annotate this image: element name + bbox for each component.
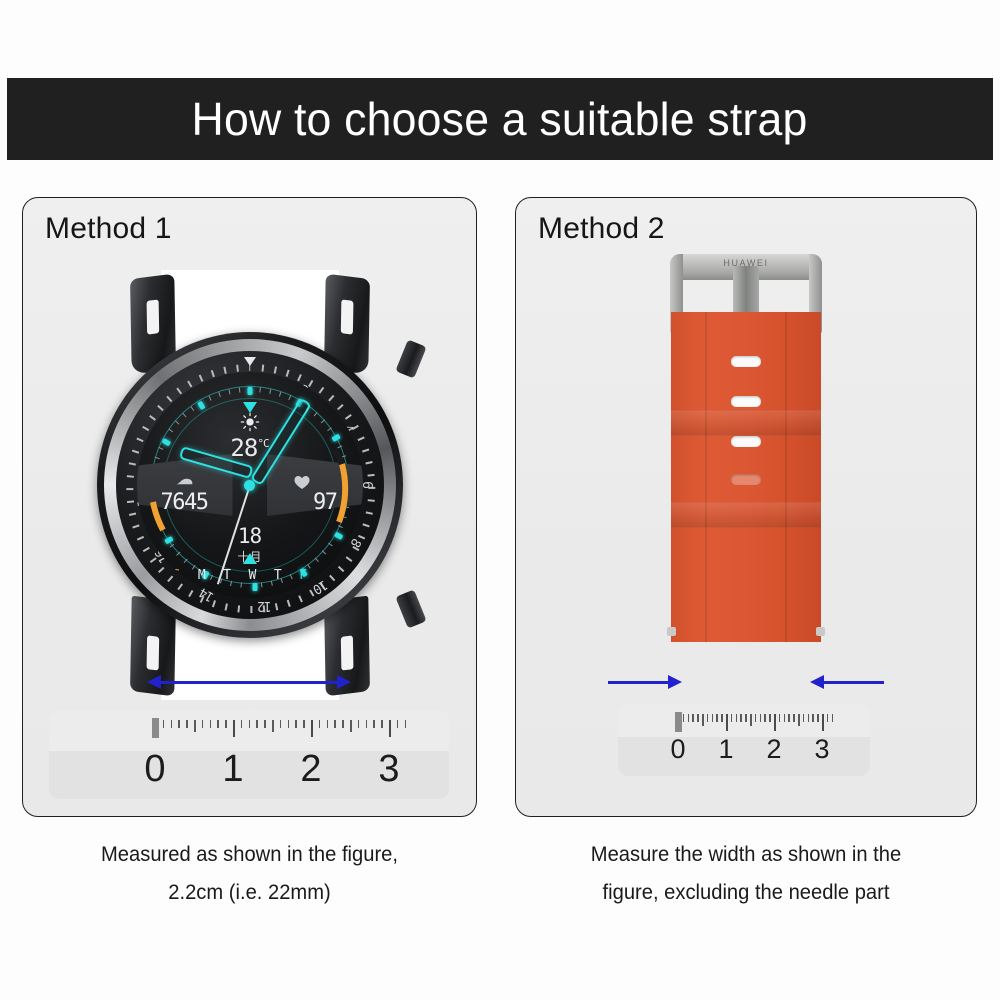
- method-2-caption-line2: figure, excluding the needle part: [519, 874, 972, 912]
- ruler-tick: [817, 714, 819, 722]
- ruler-tick-marks: 0123: [618, 704, 870, 776]
- ruler-label: 0: [670, 734, 685, 765]
- ruler-tick: [683, 714, 685, 722]
- hand-pivot: [244, 480, 255, 491]
- bezel-tick: [365, 461, 372, 464]
- bezel-tick: [237, 605, 239, 612]
- band-seam-left: [705, 312, 707, 642]
- watch-crown-lower[interactable]: [395, 589, 426, 628]
- ruler-tick: [822, 714, 824, 731]
- bezel-tick: [275, 603, 278, 610]
- ruler-tick: [793, 714, 795, 722]
- ruler-origin-block: [152, 718, 159, 738]
- ruler-tick-marks: 0123: [49, 710, 449, 799]
- ruler-tick: [389, 720, 391, 737]
- ruler-tick: [272, 720, 274, 732]
- ruler-origin-block: [675, 712, 682, 732]
- bezel-number: 12: [258, 598, 272, 613]
- ruler-tick: [764, 714, 766, 722]
- ruler-label: 1: [222, 748, 243, 791]
- watch-case: 246810121416182022: [97, 332, 403, 638]
- ruler-tick: [217, 720, 219, 728]
- ruler-label: 1: [718, 734, 733, 765]
- smartwatch-graphic: 246810121416182022: [85, 270, 415, 700]
- shoe-icon: [175, 476, 193, 487]
- band-hole: [731, 436, 761, 447]
- ruler-tick: [249, 720, 251, 728]
- ruler-tick: [233, 720, 235, 737]
- ruler-tick: [256, 720, 258, 728]
- bezel-tick: [128, 463, 135, 466]
- method-1-panel: Method 1: [22, 197, 477, 817]
- ruler-tick: [736, 714, 738, 722]
- bezel-tick: [367, 499, 374, 501]
- bezel-tick: [287, 600, 291, 607]
- ruler-tick: [397, 720, 399, 728]
- lug-notch: [340, 299, 353, 334]
- band-hole: [731, 356, 761, 367]
- bezel-tick: [126, 501, 133, 503]
- ruler-label: 2: [766, 734, 781, 765]
- ruler-tick: [342, 720, 344, 728]
- ruler-tick: [702, 714, 704, 726]
- watch-crown-upper[interactable]: [395, 339, 426, 378]
- ruler-tick: [311, 720, 313, 737]
- dial-weekday-row: SMTWTFS: [137, 568, 363, 590]
- method-2-illustration: HUAWEI: [516, 198, 976, 816]
- ruler-tick: [803, 714, 805, 722]
- ruler-tick: [774, 714, 776, 731]
- strap-band: [671, 312, 821, 642]
- strap-pin-right: [816, 627, 825, 636]
- dial-triangle-top: [243, 402, 257, 413]
- ruler-tick: [178, 720, 180, 728]
- ruler-tick: [295, 720, 297, 728]
- bezel-tick: [126, 489, 133, 491]
- ruler-tick: [760, 714, 762, 722]
- band-seam-right: [785, 312, 787, 642]
- dial-step-count: 7645: [161, 490, 208, 515]
- page-title: How to choose a suitable strap: [192, 92, 808, 146]
- ruler-tick: [745, 714, 747, 722]
- ruler-tick: [740, 714, 742, 722]
- ruler-tick: [755, 714, 757, 722]
- method-2-ruler: 0123: [618, 704, 870, 776]
- bezel-tick: [362, 449, 369, 453]
- strap-pin-left: [667, 627, 676, 636]
- band-rib-upper: [671, 410, 821, 436]
- ruler-tick: [731, 714, 733, 722]
- ruler-label: 3: [378, 748, 399, 791]
- watch-strap-graphic: HUAWEI: [631, 254, 861, 704]
- dial-triangle-bottom: [243, 553, 257, 564]
- bezel-tick: [129, 513, 136, 516]
- ruler-tick: [716, 714, 718, 722]
- arrow-head-right: [337, 675, 351, 689]
- ruler-tick: [303, 720, 305, 728]
- sun-icon: [240, 412, 260, 432]
- bezel-tick: [212, 600, 216, 607]
- bezel-tick: [126, 475, 133, 477]
- ruler-tick: [381, 720, 383, 728]
- title-banner: How to choose a suitable strap: [7, 78, 993, 160]
- weekday-5: F: [299, 568, 307, 583]
- method-1-caption-line2: 2.2cm (i.e. 22mm): [31, 874, 468, 912]
- bezel-tick: [367, 474, 374, 476]
- weekday-4: T: [274, 568, 282, 583]
- band-hole: [731, 396, 761, 407]
- ruler-tick: [827, 714, 829, 722]
- arrow-shaft: [159, 681, 339, 684]
- ruler-tick: [808, 714, 810, 722]
- ruler-tick: [194, 720, 196, 732]
- temperature-unit: °C: [257, 437, 268, 450]
- bezel-tick: [236, 365, 238, 372]
- ruler-tick: [358, 720, 360, 728]
- bezel-tick: [362, 523, 369, 527]
- ruler-tick: [707, 714, 709, 722]
- weekday-6: S: [325, 568, 333, 583]
- temperature-value: 28: [230, 434, 257, 462]
- ruler-tick: [812, 714, 814, 722]
- page-root: How to choose a suitable strap Method 1: [0, 0, 1000, 1000]
- arrow-head-left: [147, 675, 161, 689]
- method-1-caption-line1: Measured as shown in the figure,: [31, 836, 468, 874]
- ruler-label: 2: [300, 748, 321, 791]
- ruler-tick: [721, 714, 723, 722]
- ruler-tick: [171, 720, 173, 728]
- ruler-tick: [405, 720, 407, 728]
- bezel-tick: [365, 511, 372, 514]
- ruler-tick: [241, 720, 243, 728]
- ruler-tick: [692, 714, 694, 722]
- method-1-illustration: 246810121416182022: [23, 198, 476, 816]
- ruler-label: 3: [814, 734, 829, 765]
- ruler-tick: [327, 720, 329, 728]
- bezel-tick: [250, 606, 252, 613]
- ruler-tick: [264, 720, 266, 728]
- ruler-tick: [697, 714, 699, 722]
- ruler-tick: [779, 714, 781, 722]
- ruler-tick: [202, 720, 204, 728]
- dial-date-day: 18: [238, 524, 261, 548]
- bezel-tick: [261, 365, 263, 372]
- ruler-tick: [373, 720, 375, 728]
- method-1-caption: Measured as shown in the figure, 2.2cm (…: [31, 836, 468, 912]
- bezel-top-marker: [244, 357, 256, 366]
- ruler-tick: [366, 720, 368, 728]
- bezel-tick: [224, 603, 227, 610]
- method-1-ruler: 0123: [49, 710, 449, 799]
- ruler-tick: [750, 714, 752, 726]
- lug-notch: [340, 635, 353, 670]
- ruler-tick: [210, 720, 212, 728]
- arrow-shaft-right: [822, 681, 884, 684]
- ruler-tick: [798, 714, 800, 726]
- ruler-tick: [288, 720, 290, 728]
- ruler-tick: [726, 714, 728, 731]
- watch-dial: 28°C 7645 97 18: [137, 372, 363, 598]
- band-hole: [731, 474, 761, 485]
- ruler-tick: [784, 714, 786, 722]
- ruler-tick: [334, 720, 336, 728]
- ruler-label: 0: [144, 748, 165, 791]
- ruler-tick: [712, 714, 714, 722]
- ruler-tick: [350, 720, 352, 732]
- weekday-1: M: [198, 568, 206, 583]
- ruler-tick: [319, 720, 321, 728]
- ruler-tick: [163, 720, 165, 728]
- ruler-tick: [225, 720, 227, 728]
- arrow-head-inward-right: [810, 675, 824, 689]
- dial-heart-rate: 97: [313, 490, 337, 515]
- heart-icon: [293, 474, 311, 490]
- method-2-caption: Measure the width as shown in the figure…: [519, 836, 972, 912]
- ruler-tick: [186, 720, 188, 728]
- arrow-head-inward-left: [668, 675, 682, 689]
- band-rib-lower: [671, 502, 821, 528]
- ruler-tick: [280, 720, 282, 728]
- lug-notch: [146, 635, 159, 670]
- method-2-caption-line1: Measure the width as shown in the: [519, 836, 972, 874]
- ruler-tick: [788, 714, 790, 722]
- ruler-tick: [688, 714, 690, 722]
- ruler-tick: [832, 714, 834, 722]
- weekday-2: T: [223, 568, 231, 583]
- weekday-3: W: [249, 568, 257, 583]
- arrow-shaft-left: [608, 681, 670, 684]
- method-2-panel: Method 2 HUAWEI: [515, 197, 977, 817]
- ruler-tick: [769, 714, 771, 722]
- lug-notch: [146, 299, 159, 334]
- weekday-0: S: [173, 568, 181, 583]
